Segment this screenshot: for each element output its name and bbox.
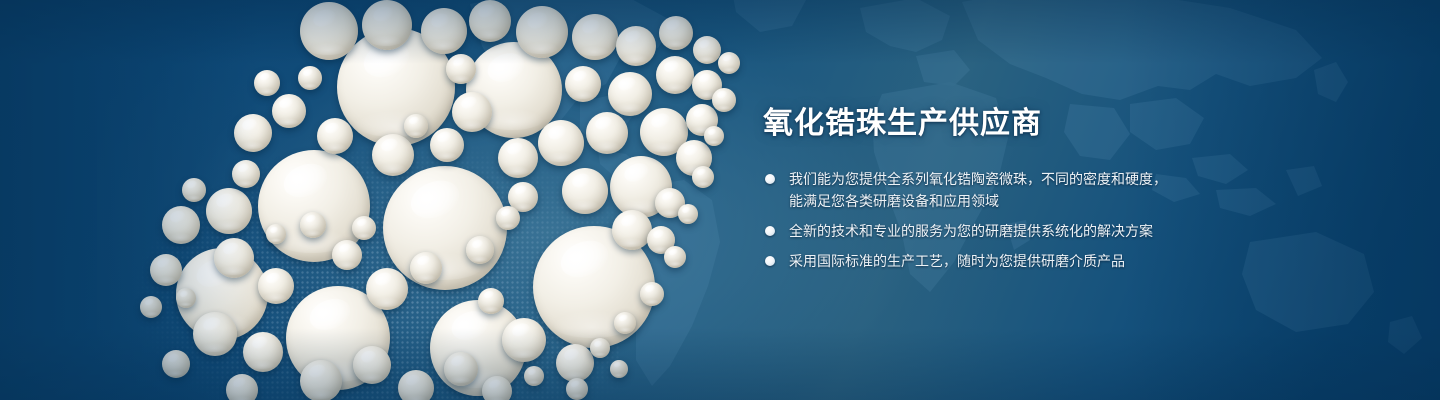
list-item: 采用国际标准的生产工艺，随时为您提供研磨介质产品: [763, 250, 1263, 272]
bullet-text-line: 我们能为您提供全系列氧化锆陶瓷微珠，不同的密度和硬度，: [789, 168, 1263, 190]
banner-feature-list: 我们能为您提供全系列氧化锆陶瓷微珠，不同的密度和硬度， 能满足您各类研磨设备和应…: [763, 168, 1263, 272]
bullet-dot-icon: [765, 226, 775, 236]
bullet-text-line: 采用国际标准的生产工艺，随时为您提供研磨介质产品: [789, 250, 1263, 272]
bullet-text-line: 能满足您各类研磨设备和应用领域: [789, 190, 1263, 212]
hero-banner: 氧化锆珠生产供应商 我们能为您提供全系列氧化锆陶瓷微珠，不同的密度和硬度， 能满…: [0, 0, 1440, 400]
banner-content: 氧化锆珠生产供应商 我们能为您提供全系列氧化锆陶瓷微珠，不同的密度和硬度， 能满…: [763, 104, 1263, 272]
list-item: 我们能为您提供全系列氧化锆陶瓷微珠，不同的密度和硬度， 能满足您各类研磨设备和应…: [763, 168, 1263, 212]
list-item: 全新的技术和专业的服务为您的研磨提供系统化的解决方案: [763, 220, 1263, 242]
banner-title: 氧化锆珠生产供应商: [763, 104, 1263, 144]
bullet-dot-icon: [765, 174, 775, 184]
bullet-dot-icon: [765, 256, 775, 266]
bullet-text-line: 全新的技术和专业的服务为您的研磨提供系统化的解决方案: [789, 220, 1263, 242]
